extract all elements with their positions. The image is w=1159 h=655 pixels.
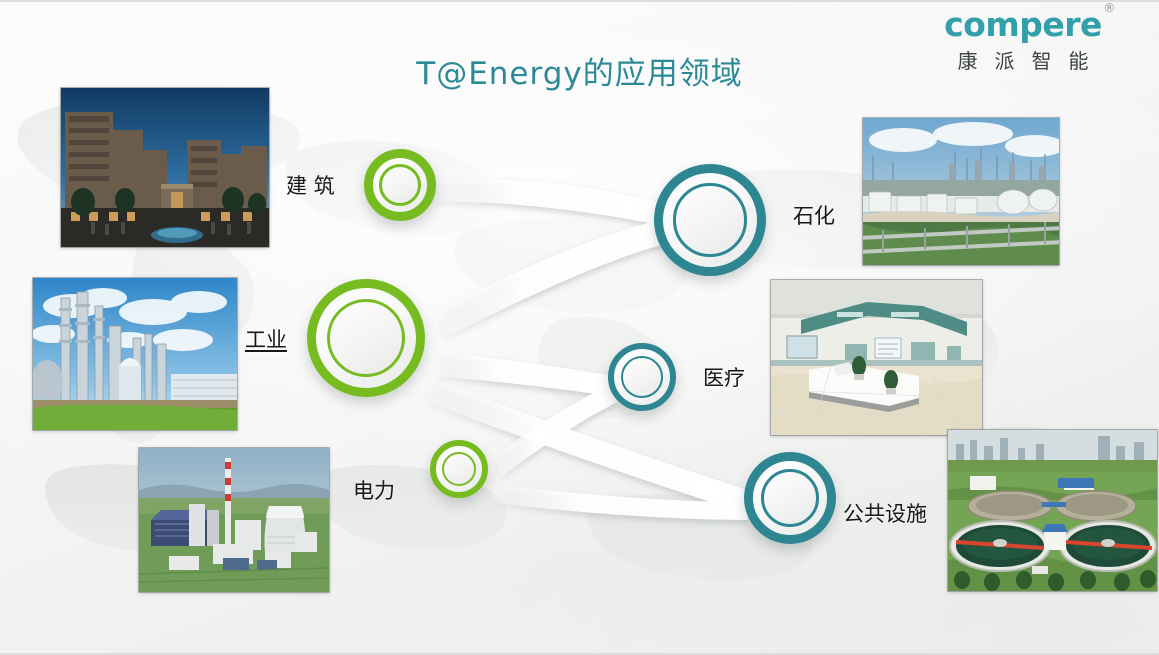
label-industry: 工业 — [245, 324, 287, 354]
top-divider — [0, 0, 1159, 2]
petrochem-photo — [863, 118, 1059, 265]
node-ring-construction[interactable] — [364, 149, 436, 221]
logo-wordmark-text: compere — [944, 5, 1102, 44]
logo-wordmark: compere ® — [944, 8, 1102, 43]
logo-chinese-name: 康派智能 — [903, 45, 1143, 74]
slide-canvas: T@Energy的应用领域 compere ® 康派智能 — [0, 0, 1159, 655]
industry-photo — [33, 278, 237, 430]
public-photo — [948, 430, 1157, 591]
label-construction: 建 筑 — [286, 170, 335, 200]
node-ring-medical[interactable] — [608, 343, 676, 411]
construction-photo — [61, 88, 269, 247]
node-ring-petrochem[interactable] — [654, 164, 766, 276]
label-medical: 医疗 — [703, 362, 745, 392]
node-ring-industry[interactable] — [307, 279, 425, 397]
medical-photo — [771, 280, 982, 435]
power-photo — [139, 448, 329, 592]
node-ring-public[interactable] — [744, 452, 836, 544]
node-ring-power[interactable] — [430, 440, 488, 498]
registered-trademark-icon: ® — [1103, 2, 1115, 15]
label-petrochem: 石化 — [793, 200, 835, 230]
brand-logo: compere ® 康派智能 — [903, 8, 1143, 74]
label-public: 公共设施 — [843, 498, 927, 528]
label-power: 电力 — [353, 475, 395, 505]
